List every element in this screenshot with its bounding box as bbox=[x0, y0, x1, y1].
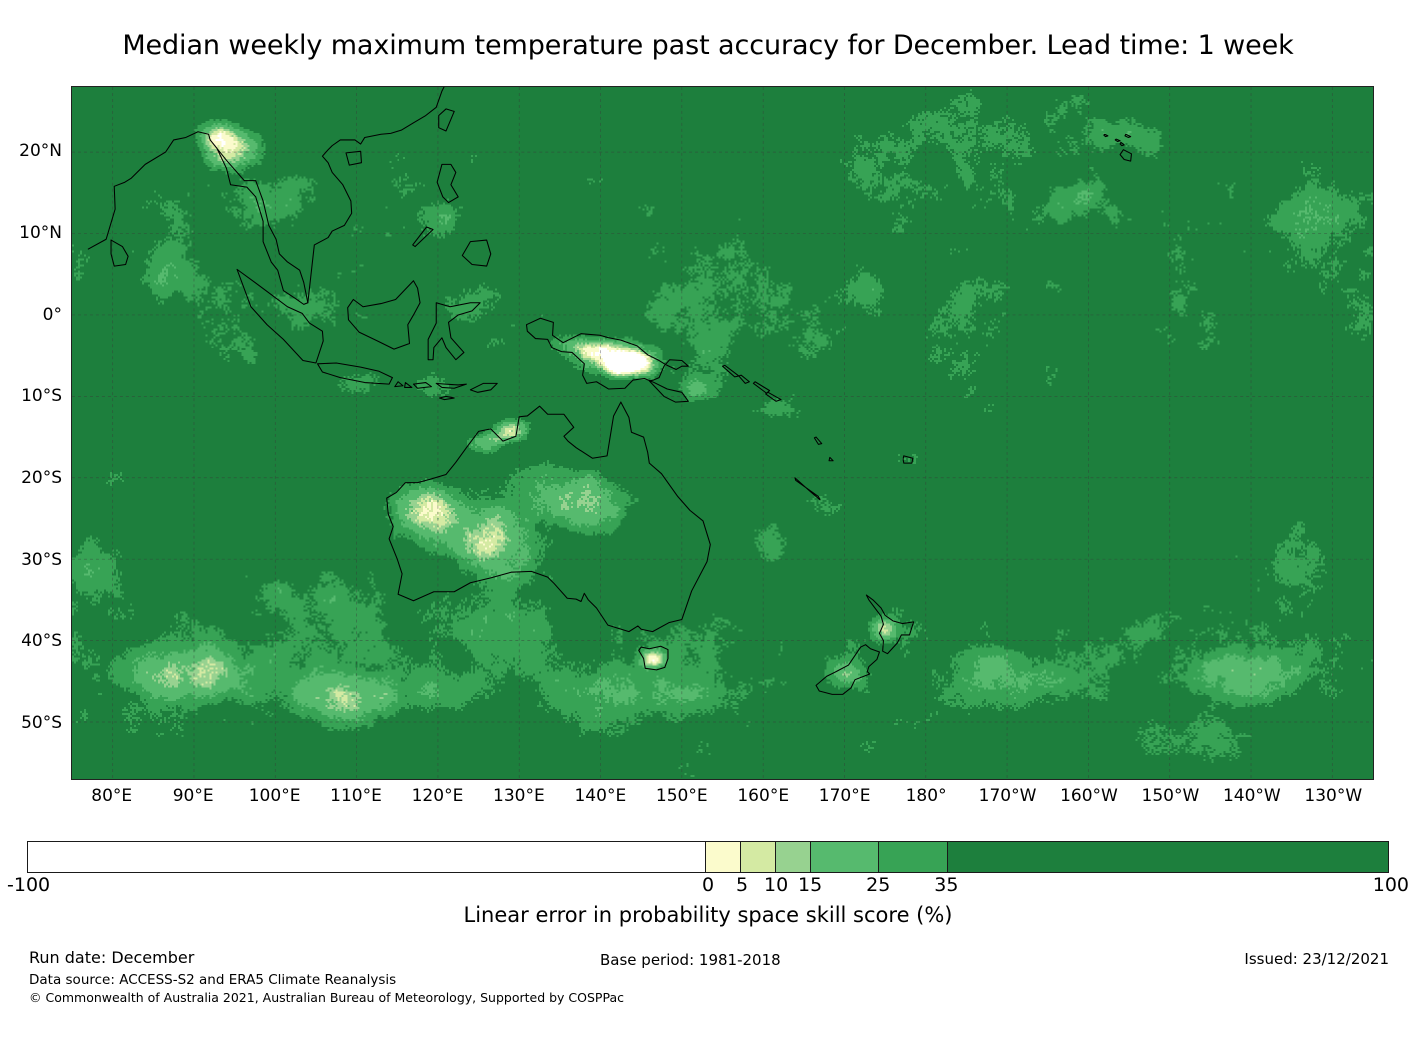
longitude-tick-150E: 150°E bbox=[656, 786, 708, 806]
colorbar-axis-label: Linear error in probability space skill … bbox=[464, 903, 953, 927]
colorbar-tick--100: -100 bbox=[7, 874, 50, 896]
longitude-tick-120E: 120°E bbox=[412, 786, 464, 806]
colorbar-segment--100-0 bbox=[28, 842, 705, 872]
colorbar-segment-15-25 bbox=[810, 842, 879, 872]
latitude-tick-20S: 20°S bbox=[0, 468, 62, 488]
longitude-tick-130W: 130°W bbox=[1304, 786, 1362, 806]
longitude-tick-180: 180° bbox=[906, 786, 947, 806]
colorbar-segment-5-10 bbox=[740, 842, 775, 872]
colorbar-segment-25-35 bbox=[878, 842, 947, 872]
latitude-tick-20N: 20°N bbox=[0, 141, 62, 161]
latitude-tick-30S: 30°S bbox=[0, 550, 62, 570]
issued-date-text: Issued: 23/12/2021 bbox=[1244, 950, 1389, 968]
colorbar-tick-5: 5 bbox=[736, 874, 748, 896]
map-plot-area bbox=[71, 86, 1374, 780]
longitude-tick-100E: 100°E bbox=[249, 786, 301, 806]
colorbar-tick-0: 0 bbox=[702, 874, 714, 896]
colorbar-segment-10-15 bbox=[775, 842, 810, 872]
colorbar-tick-100: 100 bbox=[1373, 874, 1409, 896]
run-date-text: Run date: December bbox=[29, 948, 194, 967]
longitude-tick-150W: 150°W bbox=[1142, 786, 1200, 806]
coastline-overlay bbox=[72, 87, 1373, 779]
latitude-tick-0: 0° bbox=[0, 305, 62, 325]
base-period-text: Base period: 1981-2018 bbox=[600, 951, 781, 969]
colorbar-segment-0-5 bbox=[705, 842, 740, 872]
colorbar-tick-25: 25 bbox=[866, 874, 890, 896]
copyright-text: © Commonwealth of Australia 2021, Austra… bbox=[29, 990, 624, 1005]
data-source-text: Data source: ACCESS-S2 and ERA5 Climate … bbox=[29, 972, 396, 988]
longitude-tick-110E: 110°E bbox=[330, 786, 382, 806]
longitude-tick-160E: 160°E bbox=[737, 786, 789, 806]
page-title: Median weekly maximum temperature past a… bbox=[122, 30, 1293, 61]
longitude-tick-130E: 130°E bbox=[493, 786, 545, 806]
colorbar-tick-15: 15 bbox=[798, 874, 822, 896]
longitude-tick-140W: 140°W bbox=[1223, 786, 1281, 806]
longitude-tick-170E: 170°E bbox=[819, 786, 871, 806]
colorbar-tick-35: 35 bbox=[934, 874, 958, 896]
colorbar-tick-10: 10 bbox=[764, 874, 788, 896]
longitude-tick-90E: 90°E bbox=[173, 786, 214, 806]
longitude-tick-80E: 80°E bbox=[91, 786, 132, 806]
colorbar-segment-35-100 bbox=[947, 842, 1388, 872]
latitude-tick-10N: 10°N bbox=[0, 223, 62, 243]
longitude-tick-140E: 140°E bbox=[574, 786, 626, 806]
latitude-tick-50S: 50°S bbox=[0, 713, 62, 733]
latitude-tick-10S: 10°S bbox=[0, 386, 62, 406]
colorbar bbox=[27, 841, 1389, 873]
longitude-tick-170W: 170°W bbox=[979, 786, 1037, 806]
latitude-tick-40S: 40°S bbox=[0, 631, 62, 651]
longitude-tick-160W: 160°W bbox=[1060, 786, 1118, 806]
